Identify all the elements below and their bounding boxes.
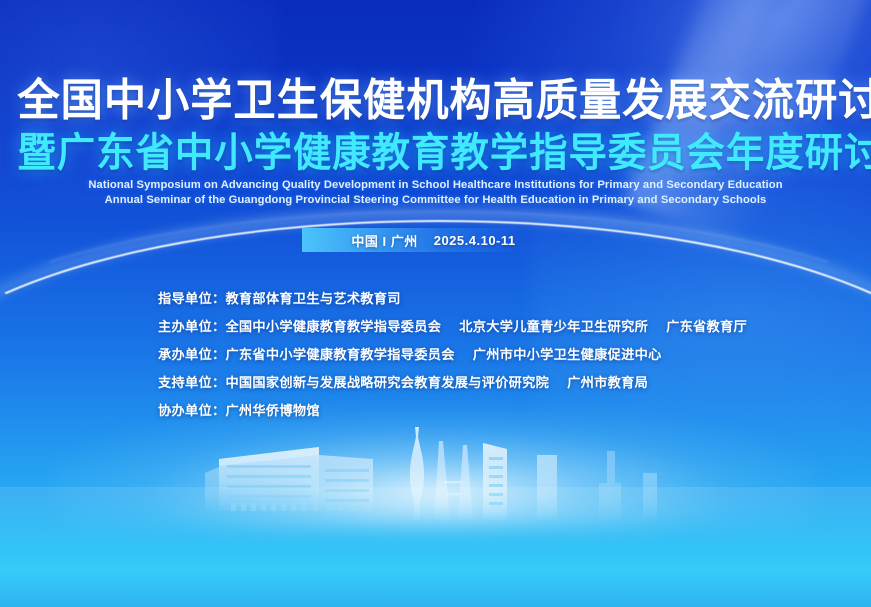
poster-content: 全国中小学卫生保健机构高质量发展交流研讨活动 暨广东省中小学健康教育教学指导委员… — [0, 0, 871, 607]
poster-subtitle-english-line-1: National Symposium on Advancing Quality … — [0, 179, 871, 191]
organizer-list: 指导单位： 教育部体育卫生与艺术教育司 主办单位： 全国中小学健康教育教学指导委… — [158, 288, 811, 428]
organizer-label: 协办单位： — [158, 400, 225, 419]
organizer-value: 广州市中小学卫生健康促进中心 — [473, 344, 662, 363]
organizer-label: 主办单位： — [158, 316, 225, 335]
organizer-value: 广州市教育局 — [567, 372, 648, 391]
organizer-values: 广东省中小学健康教育教学指导委员会 广州市中小学卫生健康促进中心 — [225, 344, 661, 363]
event-location: 中国 I 广州 — [351, 231, 417, 250]
organizer-row: 协办单位： 广州华侨博物馆 — [158, 400, 811, 419]
organizer-value: 广东省教育厅 — [666, 316, 747, 335]
organizer-values: 广州华侨博物馆 — [225, 400, 319, 419]
organizer-values: 中国国家创新与发展战略研究会教育发展与评价研究院 广州市教育局 — [225, 372, 648, 391]
conference-poster: 全国中小学卫生保健机构高质量发展交流研讨活动 暨广东省中小学健康教育教学指导委员… — [0, 0, 871, 607]
organizer-value: 广东省中小学健康教育教学指导委员会 — [225, 344, 454, 363]
organizer-value: 教育部体育卫生与艺术教育司 — [225, 288, 400, 307]
poster-title-line-1: 全国中小学卫生保健机构高质量发展交流研讨活动 — [17, 76, 853, 126]
organizer-values: 教育部体育卫生与艺术教育司 — [225, 288, 400, 307]
organizer-row: 指导单位： 教育部体育卫生与艺术教育司 — [158, 288, 811, 307]
organizer-label: 支持单位： — [158, 372, 225, 391]
organizer-label: 指导单位： — [158, 288, 225, 307]
organizer-value: 北京大学儿童青少年卫生研究所 — [459, 316, 648, 335]
organizer-row: 主办单位： 全国中小学健康教育教学指导委员会 北京大学儿童青少年卫生研究所 广东… — [158, 316, 811, 335]
organizer-row: 承办单位： 广东省中小学健康教育教学指导委员会 广州市中小学卫生健康促进中心 — [158, 344, 811, 363]
organizer-value: 广州华侨博物馆 — [225, 400, 319, 419]
event-date: 2025.4.10-11 — [434, 233, 516, 248]
poster-subtitle-english-line-2: Annual Seminar of the Guangdong Provinci… — [0, 194, 871, 206]
organizer-row: 支持单位： 中国国家创新与发展战略研究会教育发展与评价研究院 广州市教育局 — [158, 372, 811, 391]
organizer-value: 中国国家创新与发展战略研究会教育发展与评价研究院 — [225, 372, 549, 391]
event-badge: 中国 I 广州 2025.4.10-11 — [302, 230, 565, 250]
organizer-value: 全国中小学健康教育教学指导委员会 — [225, 316, 441, 335]
organizer-values: 全国中小学健康教育教学指导委员会 北京大学儿童青少年卫生研究所 广东省教育厅 — [225, 316, 747, 335]
poster-title-line-2: 暨广东省中小学健康教育教学指导委员会年度研讨活动 — [17, 130, 853, 176]
organizer-label: 承办单位： — [158, 344, 225, 363]
